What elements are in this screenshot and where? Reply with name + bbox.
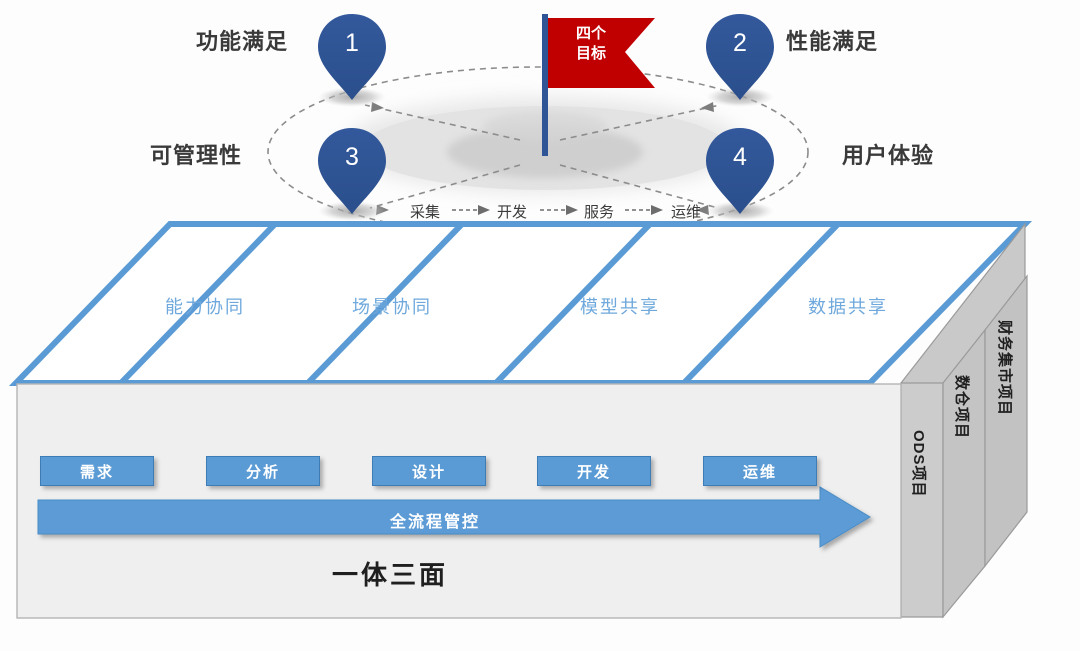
stage-button-analysis[interactable]: 分析: [206, 456, 320, 486]
goal-pin-number-4: 4: [720, 143, 760, 172]
lifecycle-step-4: 运维: [671, 201, 701, 222]
top-panel-label-4[interactable]: 数据共享: [808, 293, 888, 319]
top-panel-label-1[interactable]: 能力协同: [165, 293, 245, 319]
top-panel-label-2[interactable]: 场景协同: [352, 293, 432, 319]
goal-pin-number-3: 3: [332, 143, 372, 172]
diagram-vector-layer: [0, 0, 1080, 651]
top-panel-label-3[interactable]: 模型共享: [580, 293, 660, 319]
diagram-bottom-title: 一体三面: [332, 555, 448, 592]
goal-label-2: 性能满足: [786, 24, 878, 56]
goal-label-4: 用户体验: [842, 138, 934, 170]
lifecycle-step-3: 服务: [584, 201, 614, 222]
stage-button-development[interactable]: 开发: [537, 456, 651, 486]
goal-label-3: 可管理性: [150, 138, 242, 170]
goal-pin-number-1: 1: [332, 29, 372, 58]
goal-flag-line1: 四个: [563, 25, 619, 42]
goal-flag-line2: 目标: [563, 45, 619, 62]
goal-label-1: 功能满足: [196, 24, 288, 56]
stage-button-requirement[interactable]: 需求: [40, 456, 154, 486]
full-process-arrow-label: 全流程管控: [390, 508, 480, 532]
lifecycle-step-2: 开发: [497, 201, 527, 222]
stage-button-operations[interactable]: 运维: [703, 456, 817, 486]
side-panel-label-finance[interactable]: 财务集市项目: [995, 320, 1016, 416]
stage-button-design[interactable]: 设计: [372, 456, 486, 486]
side-panel-label-ods[interactable]: ODS项目: [909, 430, 930, 498]
diagram-canvas: 功能满足 性能满足 可管理性 用户体验 1 2 3 4 四个 目标 采集 开发 …: [0, 0, 1080, 651]
goal-pin-number-2: 2: [720, 29, 760, 58]
lifecycle-step-1: 采集: [410, 201, 440, 222]
side-panel-label-dw[interactable]: 数仓项目: [952, 375, 973, 439]
